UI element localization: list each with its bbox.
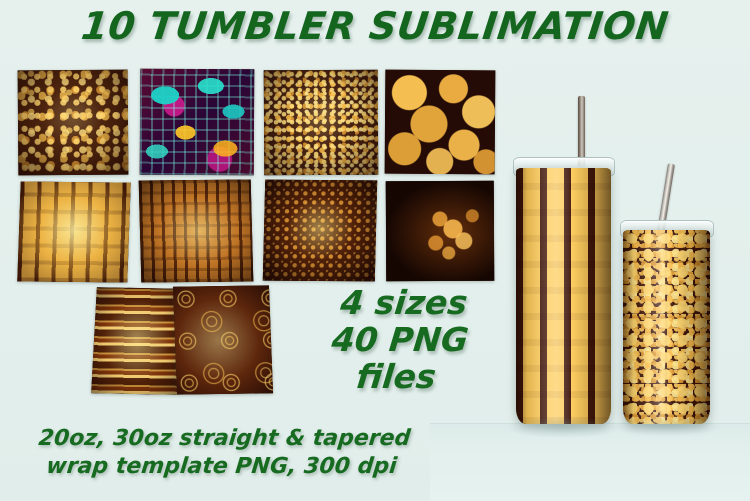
design-thumbnail-7: [263, 180, 377, 282]
footer-text-block: 20oz, 30oz straight & tapered wrap templ…: [15, 425, 431, 481]
pattern-bright-gold-window-grid: [17, 181, 130, 282]
pattern-fine-gold-woven-grid: [139, 180, 254, 283]
footer-line-2: wrap template PNG, 300 dpi: [15, 453, 428, 481]
vignette-overlay: [264, 70, 379, 176]
cylinder-shading: [516, 168, 611, 424]
promo-line-2: 40 PNG: [298, 322, 502, 359]
design-thumbnail-5: [17, 181, 130, 282]
pattern-horizontal-gold-stripes: [91, 287, 183, 395]
pattern-teal-magenta-leaves-grid: [140, 69, 255, 176]
design-thumbnail-6: [139, 180, 254, 283]
footer-line-1: 20oz, 30oz straight & tapered: [18, 425, 431, 453]
design-thumbnail-3: [264, 70, 379, 176]
design-thumbnail-2: [140, 69, 255, 176]
tumbler-shadow-short: [612, 416, 722, 436]
pattern-dark-gold-cross-lattice: [263, 180, 377, 282]
tumbler-shadow-tall: [505, 416, 623, 438]
tumbler-body-short: [623, 230, 710, 424]
design-thumbnail-10: [173, 285, 273, 394]
page-title: 10 TUMBLER SUBLIMATION: [0, 4, 750, 48]
pattern-gold-spiral-swirls: [173, 285, 273, 394]
straw-dark: [578, 96, 585, 166]
design-thumbnail-4: [385, 70, 496, 175]
design-thumbnail-1: [18, 70, 129, 176]
product-mockup-canvas: 10 TUMBLER SUBLIMATION 4 sizes 40 PNG fi…: [0, 0, 750, 500]
design-thumbnail-9: [91, 287, 183, 395]
promo-text-block: 4 sizes 40 PNG files: [294, 285, 506, 396]
pattern-large-gold-glitter-blobs: [385, 70, 496, 175]
promo-line-1: 4 sizes: [302, 285, 506, 322]
vignette-overlay: [18, 70, 129, 176]
design-thumbnail-8: [386, 181, 495, 282]
cylinder-shading: [623, 230, 710, 424]
pattern-gold-bubble-cluster: [386, 181, 495, 282]
promo-line-3: files: [294, 359, 498, 396]
tumbler-body-tall: [516, 168, 611, 424]
